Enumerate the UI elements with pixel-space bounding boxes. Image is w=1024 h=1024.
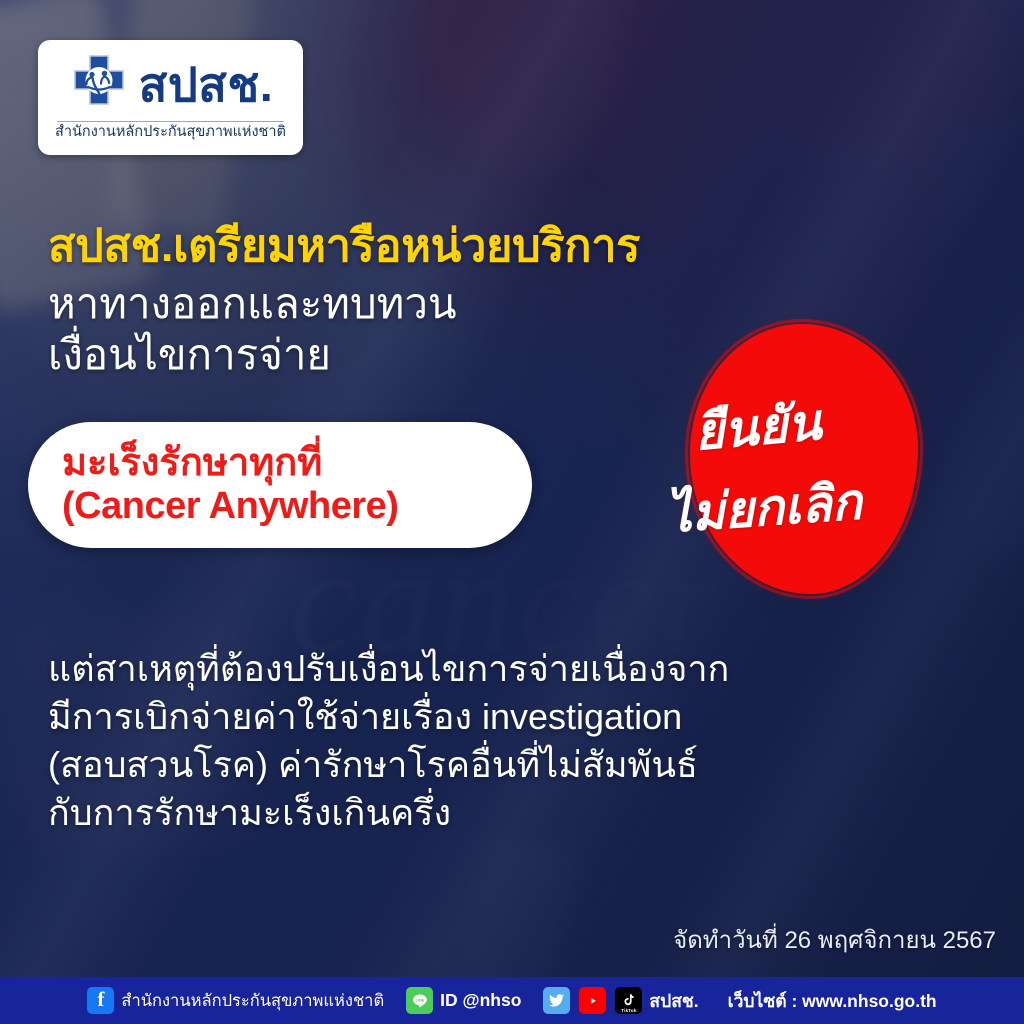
social-handle-label: สปสช.	[649, 987, 698, 1015]
youtube-icon[interactable]	[579, 987, 606, 1014]
line-icon[interactable]: LINE	[406, 987, 433, 1014]
nhso-logo: สปสช. สำนักงานหลักประกันสุขภาพแห่งชาติ	[38, 40, 303, 155]
twitter-icon[interactable]	[543, 987, 570, 1014]
confirm-stamp: ยืนยัน ไม่ยกเลิก	[672, 318, 1012, 603]
facebook-label: สำนักงานหลักประกันสุขภาพแห่งชาติ	[121, 988, 384, 1014]
headline-yellow: สปสช.เตรียมหารือหน่วยบริการ	[48, 222, 878, 270]
website-group[interactable]: เว็บไซต์ : www.nhso.go.th	[721, 987, 937, 1015]
medical-cross-icon	[68, 53, 130, 115]
facebook-icon[interactable]: f	[87, 987, 114, 1014]
svg-text:LINE: LINE	[415, 998, 424, 1002]
website-label: เว็บไซต์ : www.nhso.go.th	[728, 987, 937, 1015]
badge-line-english: (Cancer Anywhere)	[62, 485, 398, 528]
logo-divider	[57, 121, 285, 122]
social-footer-bar: f สำนักงานหลักประกันสุขภาพแห่งชาติ LINE …	[0, 977, 1024, 1024]
body-paragraph: แต่สาเหตุที่ต้องปรับเงื่อนไขการจ่ายเนื่อ…	[48, 645, 928, 837]
body-line-1: แต่สาเหตุที่ต้องปรับเงื่อนไขการจ่ายเนื่อ…	[48, 645, 928, 693]
logo-top-row: สปสช.	[68, 47, 274, 121]
body-line-4: กับการรักษามะเร็งเกินครึ่ง	[48, 789, 928, 837]
line-group[interactable]: LINE ID @nhso	[406, 987, 521, 1014]
badge-line-thai: มะเร็งรักษาทุกที่	[62, 442, 322, 485]
publish-date: จัดทำวันที่ 26 พฤศจิกายน 2567	[673, 920, 996, 959]
body-line-3: (สอบสวนโรค) ค่ารักษาโรคอื่นที่ไม่สัมพันธ…	[48, 741, 928, 789]
stamp-line-confirm: ยืนยัน	[692, 380, 1013, 458]
stamp-line-not-cancelled: ไม่ยกเลิก	[665, 465, 1014, 539]
social-icon-group[interactable]: TikTok สปสช.	[543, 987, 698, 1015]
cancer-anywhere-badge: มะเร็งรักษาทุกที่ (Cancer Anywhere)	[28, 422, 532, 548]
body-line-2: มีการเบิกจ่ายค่าใช้จ่ายเรื่อง investigat…	[48, 693, 928, 741]
infographic-poster: cancer สปสช. สำนักงานหลักประกัน	[0, 0, 1024, 1024]
logo-wordmark: สปสช.	[139, 61, 274, 108]
facebook-group[interactable]: f สำนักงานหลักประกันสุขภาพแห่งชาติ	[87, 987, 384, 1014]
tiktok-icon[interactable]: TikTok	[615, 987, 642, 1014]
line-id-label: ID @nhso	[440, 990, 521, 1011]
stamp-text-block: ยืนยัน ไม่ยกเลิก	[672, 318, 1012, 603]
logo-subtitle: สำนักงานหลักประกันสุขภาพแห่งชาติ	[55, 125, 286, 140]
tiktok-caption: TikTok	[615, 1009, 642, 1014]
